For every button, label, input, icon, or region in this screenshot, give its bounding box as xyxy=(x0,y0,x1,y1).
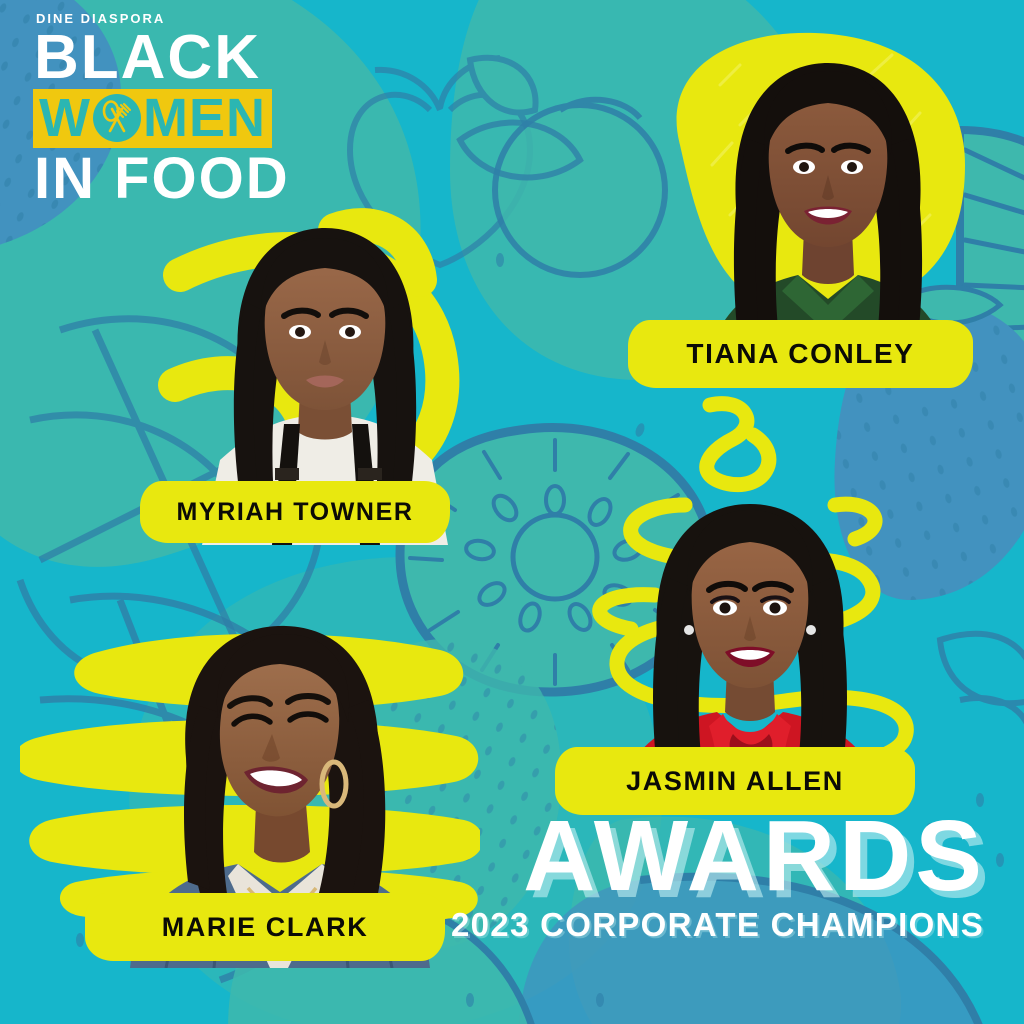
honoree-name: JASMIN ALLEN xyxy=(626,766,844,797)
brand-women-pre: W xyxy=(39,91,91,145)
honoree-card-myriah-towner: MYRIAH TOWNER xyxy=(120,185,520,565)
brand-logo: DINE DIASPORA BLACK W xyxy=(33,12,303,208)
brand-band-women: W xyxy=(33,89,272,148)
brand-line-women: W xyxy=(39,91,266,145)
name-chip-tiana-conley: TIANA CONLEY xyxy=(628,320,973,388)
name-chip-myriah-towner: MYRIAH TOWNER xyxy=(140,481,450,543)
honoree-name: TIANA CONLEY xyxy=(686,338,914,370)
honoree-name: MYRIAH TOWNER xyxy=(177,498,414,527)
awards-subtitle: 2023 CORPORATE CHAMPIONS xyxy=(451,906,984,944)
brand-line-black: BLACK xyxy=(34,29,303,86)
honoree-name: MARIE CLARK xyxy=(162,912,369,943)
awards-block: AWARDS 2023 CORPORATE CHAMPIONS xyxy=(451,810,986,944)
awards-title: AWARDS xyxy=(451,810,986,902)
honoree-card-tiana-conley: TIANA CONLEY xyxy=(620,15,1010,395)
honoree-card-jasmin-allen: JASMIN ALLEN xyxy=(535,395,955,825)
brand-women-post: MEN xyxy=(143,91,266,145)
name-chip-marie-clark: MARIE CLARK xyxy=(85,893,445,961)
awards-poster: DINE DIASPORA BLACK W xyxy=(0,0,1024,1024)
brand-line-infood: IN FOOD xyxy=(34,150,303,208)
spoon-fork-icon xyxy=(92,93,142,143)
honoree-card-marie-clark: MARIE CLARK xyxy=(20,590,480,990)
